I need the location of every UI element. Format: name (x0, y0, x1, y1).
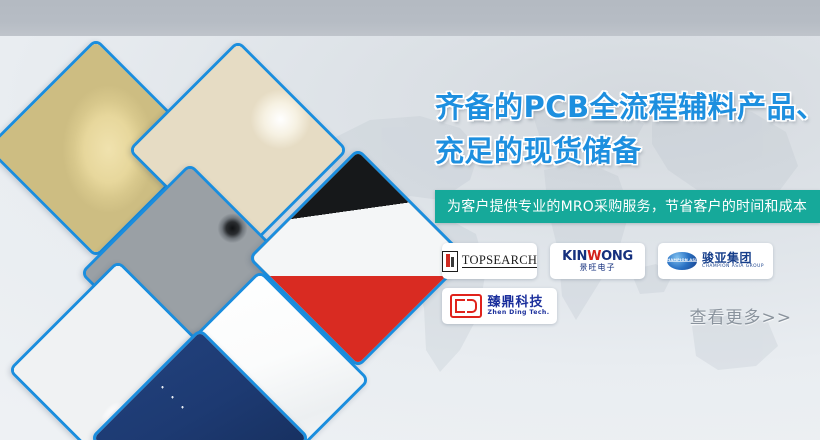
product-collage (0, 30, 430, 440)
kinwong-part3: ONG (601, 249, 633, 264)
globe-icon: CHAMPION ASIA (667, 252, 697, 270)
brand-logo-row-1: TOPSEARCH KINWONG 景旺电子 CHAMPION ASIA 骏亚集… (442, 243, 820, 279)
headline-line-1: 齐备的PCB全流程辅料产品、 (435, 86, 820, 128)
zhen-ding-label-en: Zhen Ding Tech. (488, 310, 550, 316)
kinwong-part1: KIN (562, 249, 587, 264)
view-more-link[interactable]: 查看更多>> (690, 310, 793, 327)
kinwong-wordmark-icon: KINWONG (562, 250, 633, 263)
topsearch-mark-icon (442, 251, 458, 272)
zhen-ding-label-cn: 臻鼎科技 (488, 296, 550, 309)
kinwong-label-cn: 景旺电子 (580, 264, 616, 272)
zd-monogram-icon (450, 294, 482, 318)
champion-asia-text: 骏亚集团 CHAMPION ASIA GROUP (702, 252, 764, 269)
subtitle-bar: 为客户提供专业的MRO采购服务，节省客户的时间和成本 (435, 190, 820, 223)
champion-asia-label-en: CHAMPION ASIA GROUP (702, 265, 764, 269)
brand-logo-kinwong[interactable]: KINWONG 景旺电子 (550, 243, 645, 279)
headline: 齐备的PCB全流程辅料产品、 充足的现货储备 (435, 86, 820, 172)
brand-logo-champion-asia[interactable]: CHAMPION ASIA 骏亚集团 CHAMPION ASIA GROUP (658, 243, 773, 279)
zhen-ding-text: 臻鼎科技 Zhen Ding Tech. (488, 296, 550, 316)
brand-logo-zhen-ding[interactable]: 臻鼎科技 Zhen Ding Tech. (442, 288, 557, 324)
promo-banner: 齐备的PCB全流程辅料产品、 充足的现货储备 为客户提供专业的MRO采购服务，节… (0, 0, 820, 440)
banner-content: 齐备的PCB全流程辅料产品、 充足的现货储备 为客户提供专业的MRO采购服务，节… (430, 0, 820, 440)
globe-icon-label: CHAMPION ASIA (667, 259, 697, 263)
headline-line-2: 充足的现货储备 (435, 130, 820, 172)
subtitle-text: 为客户提供专业的MRO采购服务，节省客户的时间和成本 (435, 200, 807, 214)
brand-logo-topsearch[interactable]: TOPSEARCH (442, 243, 537, 279)
kinwong-part2: W (587, 249, 601, 264)
topsearch-label: TOPSEARCH (462, 254, 537, 269)
champion-asia-label-cn: 骏亚集团 (702, 252, 764, 264)
